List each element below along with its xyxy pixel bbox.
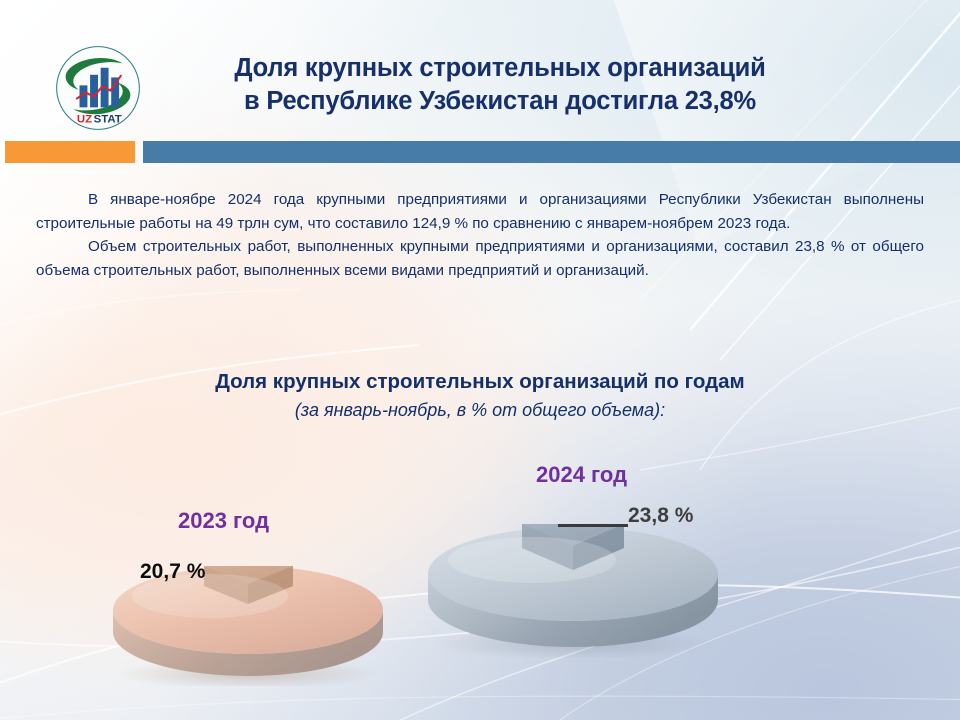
leader-line-2024 bbox=[558, 524, 628, 527]
page-title: Доля крупных строительных организаций в … bbox=[150, 52, 850, 118]
svg-text:STAT: STAT bbox=[94, 113, 122, 125]
pie-label-2023: 2023 год bbox=[178, 508, 269, 534]
chart-heading-sub: (за январь-ноябрь, в % от общего объема)… bbox=[130, 397, 830, 423]
accent-bar-blue bbox=[143, 141, 960, 163]
svg-text:UZ: UZ bbox=[77, 113, 92, 125]
page-title-line-2: в Республике Узбекистан достигла 23,8% bbox=[150, 85, 850, 118]
body-text: В январе-ноябре 2024 года крупными предп… bbox=[36, 188, 924, 282]
pie-value-2024: 23,8 % bbox=[628, 504, 693, 528]
paragraph-1: В январе-ноябре 2024 года крупными предп… bbox=[36, 188, 924, 235]
slide-canvas: UZ STAT Доля крупных строительных органи… bbox=[0, 0, 960, 720]
pie-chart-2024 bbox=[420, 518, 730, 658]
accent-bar-orange bbox=[5, 141, 135, 163]
pie-label-2024: 2024 год bbox=[536, 462, 627, 488]
page-title-line-1: Доля крупных строительных организаций bbox=[150, 52, 850, 85]
uzstat-logo-icon: UZ STAT bbox=[54, 44, 142, 132]
pie-value-2023: 20,7 % bbox=[140, 560, 205, 584]
chart-heading-main: Доля крупных строительных организаций по… bbox=[130, 368, 830, 395]
paragraph-2: Объем строительных работ, выполненных кр… bbox=[36, 235, 924, 282]
chart-heading: Доля крупных строительных организаций по… bbox=[130, 368, 830, 423]
